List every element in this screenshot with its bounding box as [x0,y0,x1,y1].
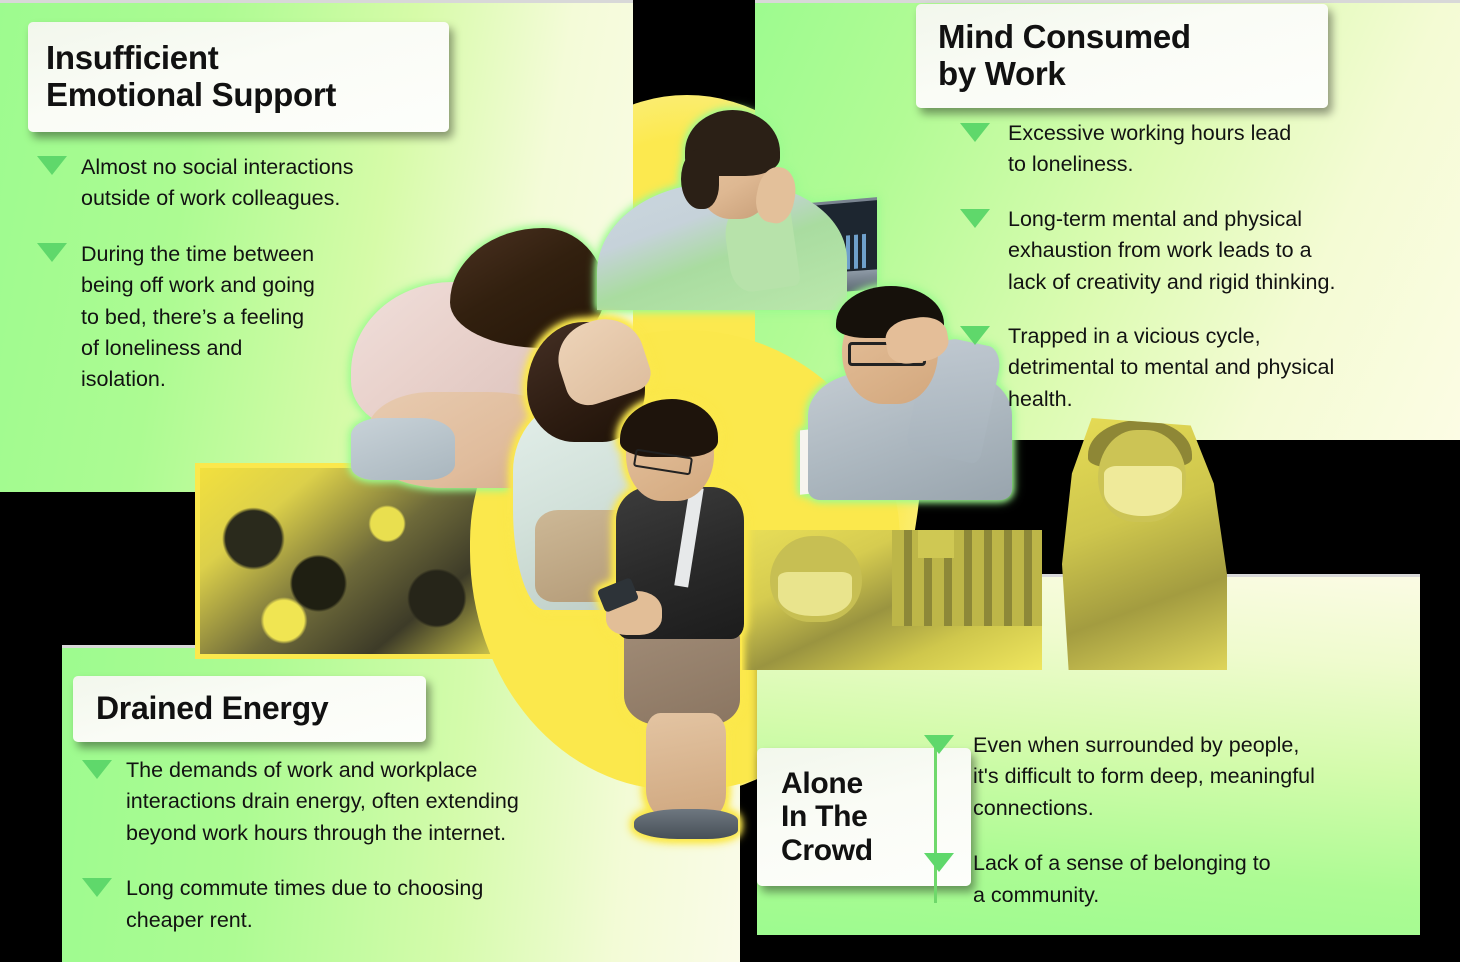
sandal-shape [634,809,738,839]
face-mask-shape [778,572,852,616]
bullet-text: Long-term mental and physical exhaustion… [1008,204,1335,298]
buildings-shape [892,530,1042,626]
legs-shape [646,713,726,819]
bullet-text: Even when surrounded by people, it's dif… [973,730,1315,824]
bullet-item: Long commute times due to choosing cheap… [78,873,648,936]
triangle-down-icon [924,853,954,872]
shorts-shape [624,627,740,725]
bullet-text: Excessive working hours lead to loneline… [1008,118,1291,181]
bullet-list-mind-consumed-by-work: Excessive working hours lead to loneline… [955,118,1445,438]
bullet-item: Long-term mental and physical exhaustion… [955,204,1445,298]
triangle-down-icon [960,209,990,228]
triangle-down-icon [37,156,67,175]
bullet-item: Trapped in a vicious cycle, detrimental … [955,321,1445,415]
photo-masked-woman-standing [1062,418,1227,670]
bullet-list-drained-energy: The demands of work and workplace intera… [78,755,648,960]
title-text: Drained Energy [96,691,328,727]
bullet-text: During the time between being off work a… [81,239,315,396]
hair-shape [620,399,718,457]
photo-masked-woman-in-market [742,530,1042,670]
bullet-item: Lack of a sense of belonging to a commun… [920,848,1430,911]
infographic-canvas: Insufficient Emotional Support Mind Cons… [0,0,1460,962]
title-card-insufficient-emotional-support: Insufficient Emotional Support [28,22,449,132]
bullet-item: During the time between being off work a… [30,239,430,396]
bullet-item: The demands of work and workplace intera… [78,755,648,849]
title-text: Insufficient Emotional Support [46,40,336,114]
title-text: Mind Consumed by Work [938,19,1191,93]
bullet-text: The demands of work and workplace intera… [126,755,519,849]
triangle-down-icon [924,735,954,754]
title-card-mind-consumed-by-work: Mind Consumed by Work [916,4,1328,108]
triangle-down-icon [960,123,990,142]
bullet-list-insufficient-emotional-support: Almost no social interactions outside of… [30,152,430,420]
bullet-item: Even when surrounded by people, it's dif… [920,730,1430,824]
bullet-text: Almost no social interactions outside of… [81,152,353,215]
triangle-down-icon [37,243,67,262]
title-card-drained-energy: Drained Energy [73,676,426,742]
shorts-shape [351,418,455,480]
bullet-text: Long commute times due to choosing cheap… [126,873,483,936]
hair-side-shape [681,149,719,209]
triangle-down-icon [82,878,112,897]
bullet-item: Excessive working hours lead to loneline… [955,118,1445,181]
tower-shape [918,530,954,558]
bullet-item: Almost no social interactions outside of… [30,152,430,215]
face-mask-shape [1104,466,1182,516]
triangle-down-icon [960,326,990,345]
bullet-list-alone-in-the-crowd: Even when surrounded by people, it's dif… [920,730,1430,935]
triangle-down-icon [82,760,112,779]
bullet-text: Trapped in a vicious cycle, detrimental … [1008,321,1334,415]
bullet-text: Lack of a sense of belonging to a commun… [973,848,1271,911]
title-text: Alone In The Crowd [781,767,873,868]
